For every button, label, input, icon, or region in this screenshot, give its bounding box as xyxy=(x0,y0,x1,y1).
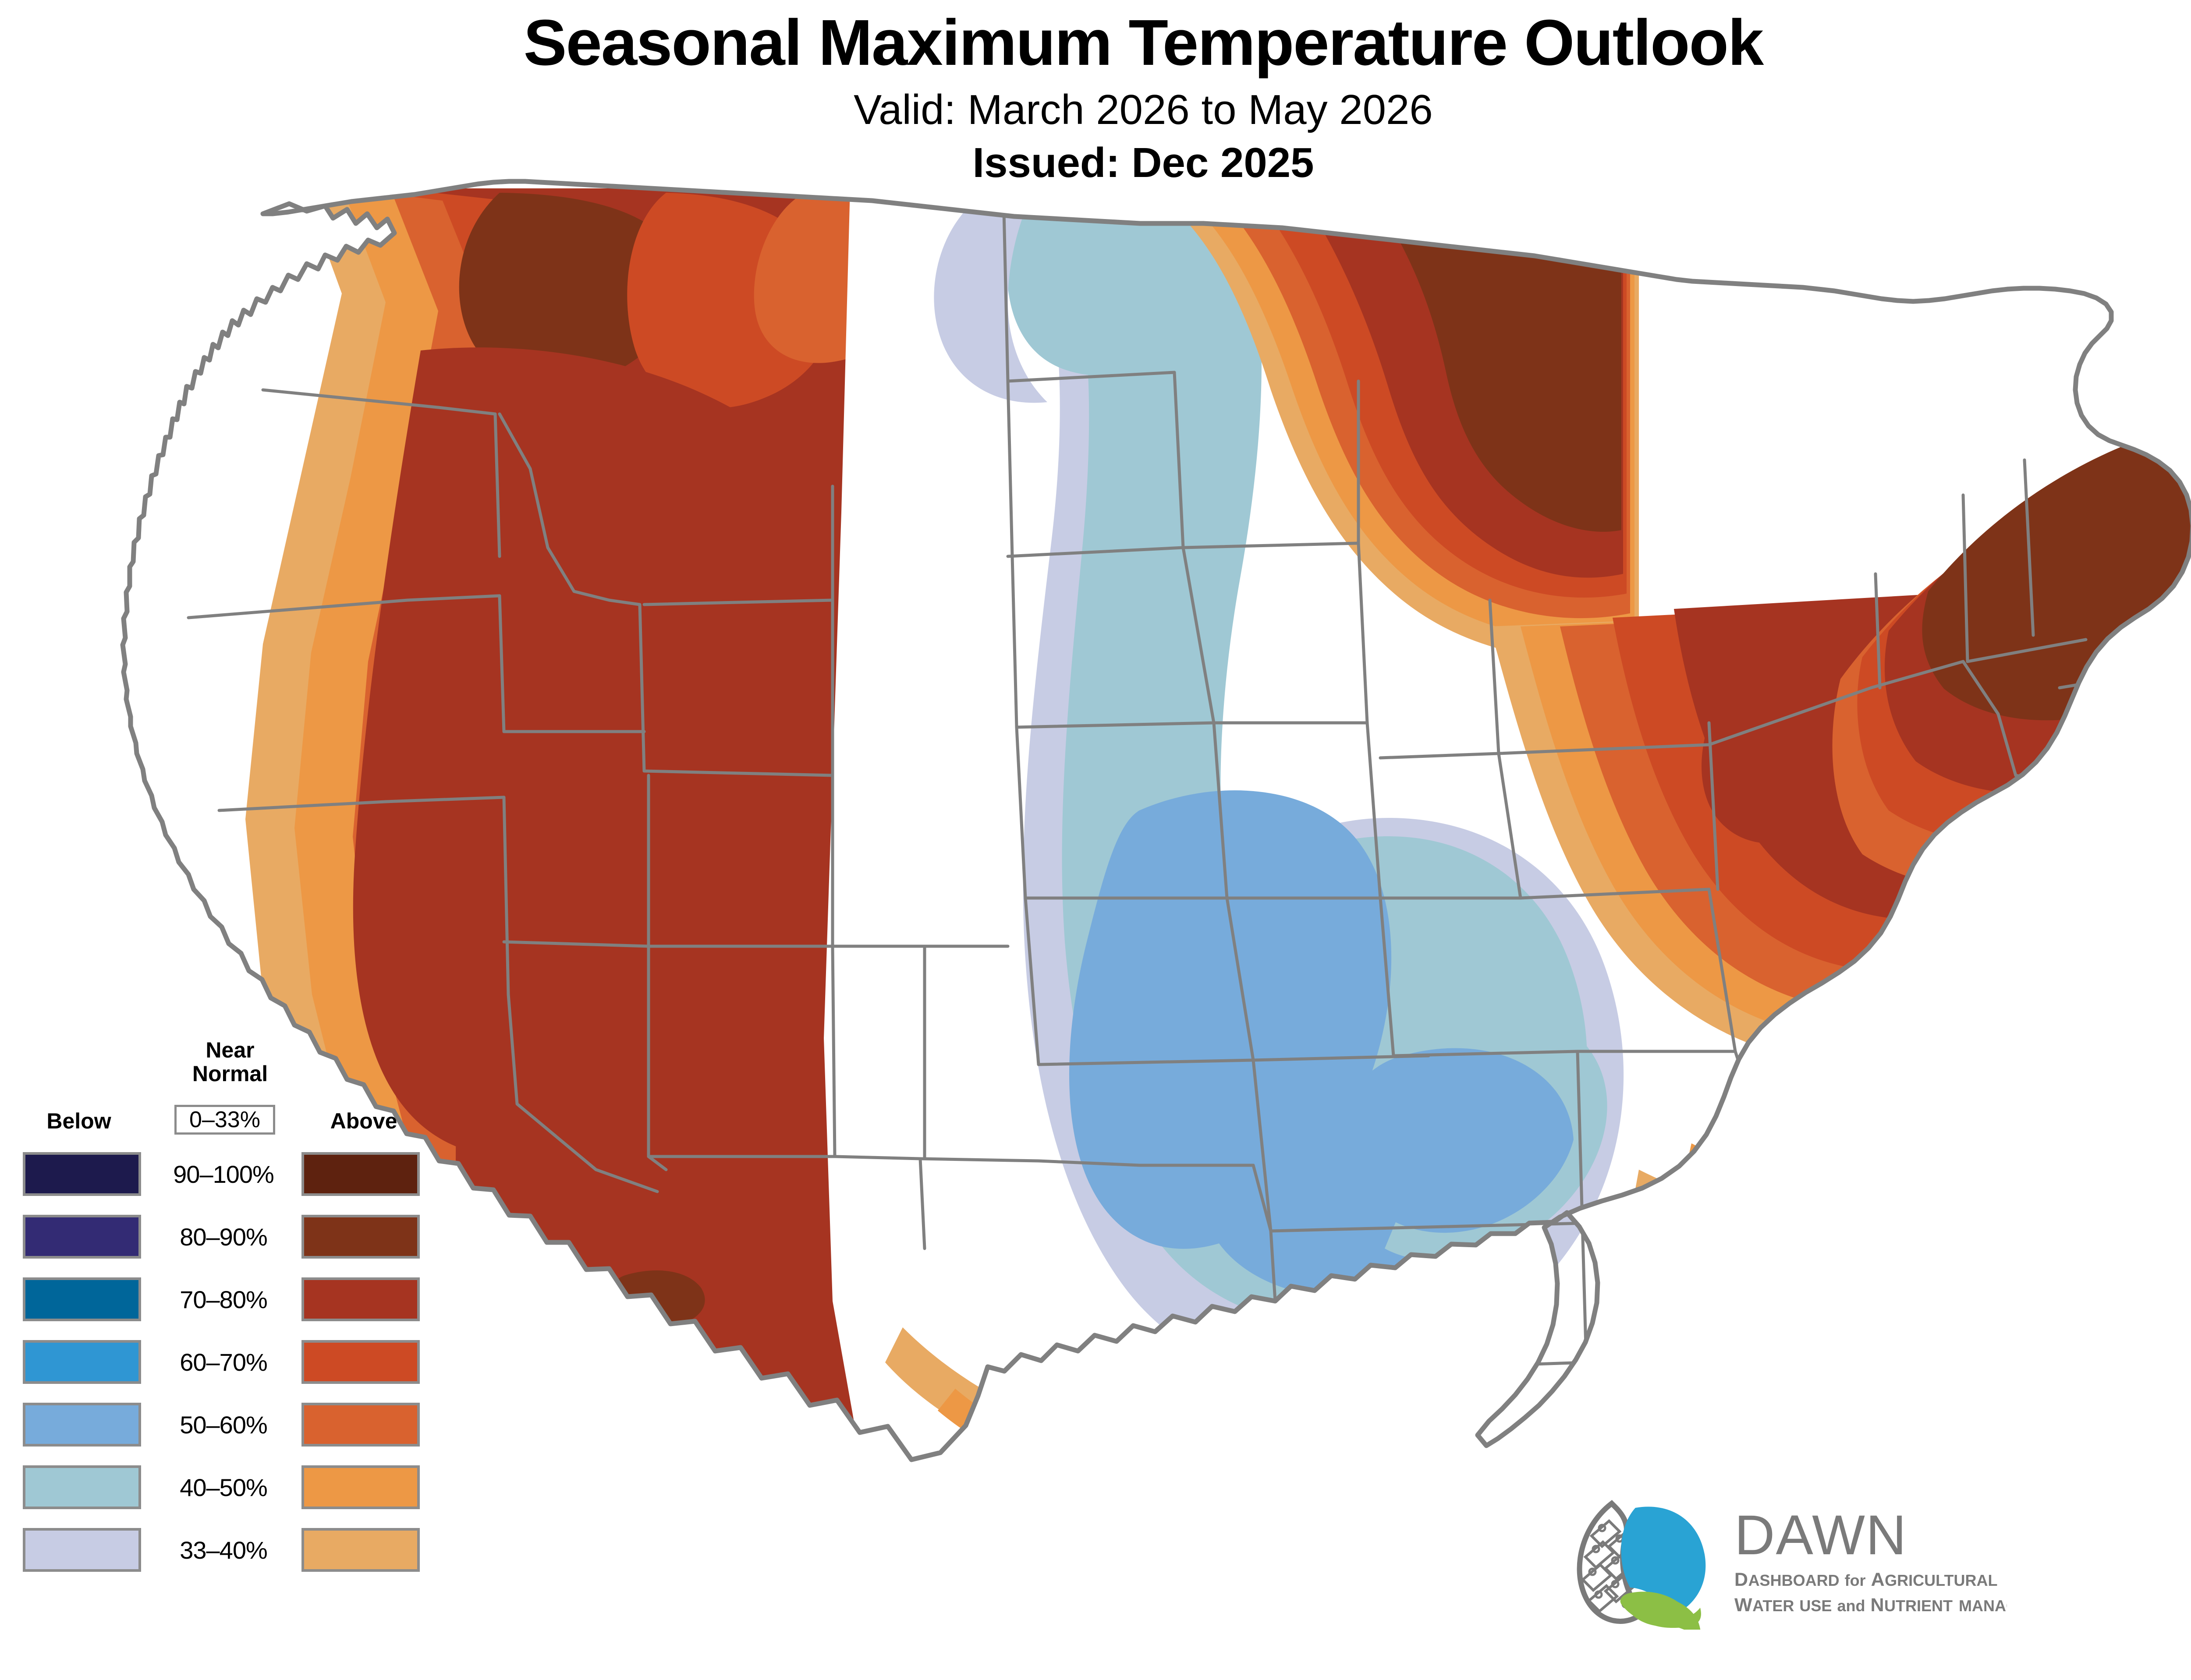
legend-range-label: 60–70% xyxy=(145,1340,302,1384)
title-block: Seasonal Maximum Temperature Outlook Val… xyxy=(0,0,2191,188)
legend-swatch-below xyxy=(23,1340,141,1384)
legend-swatch-below xyxy=(23,1277,141,1321)
legend-range-label: 33–40% xyxy=(145,1528,302,1572)
legend-swatch-above xyxy=(301,1277,420,1321)
region-mid-atlantic-40-50 xyxy=(2033,766,2191,1117)
dawn-logo: DAWN DASHBOARDforAGRICULTURAL WATERUSEan… xyxy=(1560,1494,2007,1630)
legend-range-label: 70–80% xyxy=(145,1277,302,1321)
region-carolinas-50-60 xyxy=(1976,1139,2124,1209)
legend-row: 33–40% xyxy=(13,1524,447,1586)
legend-rows: 90–100%80–90%70–80%60–70%50–60%40–50%33–… xyxy=(13,1148,447,1586)
dawn-tagline-line1: DASHBOARDforAGRICULTURAL xyxy=(1734,1569,1997,1590)
legend-swatch-below xyxy=(23,1152,141,1196)
legend-swatch-above xyxy=(301,1465,420,1509)
legend-swatch-above xyxy=(301,1340,420,1384)
region-south-florida-40-50 xyxy=(1698,1362,1779,1498)
region-southeast-33-40 xyxy=(1621,1161,2147,1371)
legend-row: 70–80% xyxy=(13,1273,447,1336)
dawn-logo-svg: DAWN DASHBOARDforAGRICULTURAL WATERUSEan… xyxy=(1560,1494,2007,1630)
legend-near-normal-heading: Near Normal xyxy=(158,1038,302,1086)
legend: Near Normal 0–33% Below Above 90–100%80–… xyxy=(13,1038,447,1665)
legend-swatch-below xyxy=(23,1528,141,1572)
legend-swatch-above xyxy=(301,1152,420,1196)
legend-swatch-above xyxy=(301,1528,420,1572)
legend-swatch-below xyxy=(23,1403,141,1447)
legend-near-normal-range: 0–33% xyxy=(174,1105,275,1135)
legend-row: 90–100% xyxy=(13,1148,447,1210)
contour-layers xyxy=(228,188,2191,1498)
valid-period: Valid: March 2026 to May 2026 xyxy=(0,75,2191,134)
legend-range-label: 90–100% xyxy=(145,1152,302,1196)
legend-row: 50–60% xyxy=(13,1398,447,1461)
legend-near-normal-line2: Normal xyxy=(158,1062,302,1086)
dawn-wordmark: DAWN xyxy=(1734,1504,1907,1567)
legend-row: 80–90% xyxy=(13,1210,447,1273)
legend-swatch-below xyxy=(23,1215,141,1259)
legend-row: 40–50% xyxy=(13,1461,447,1524)
legend-swatch-above xyxy=(301,1403,420,1447)
legend-range-label: 80–90% xyxy=(145,1215,302,1259)
legend-swatch-below xyxy=(23,1465,141,1509)
region-southeast-40-50 xyxy=(1674,1135,2138,1310)
legend-near-normal-line1: Near xyxy=(158,1038,302,1062)
dawn-tagline-line2: WATERUSEandNUTRIENTMANAGEMENT xyxy=(1734,1595,2007,1616)
legend-below-heading: Below xyxy=(13,1108,145,1134)
region-mid-atlantic-33-40 xyxy=(2060,793,2191,1130)
legend-above-heading: Above xyxy=(294,1108,434,1134)
page-title: Seasonal Maximum Temperature Outlook xyxy=(0,0,2191,75)
legend-range-label: 40–50% xyxy=(145,1465,302,1509)
legend-range-label: 50–60% xyxy=(145,1403,302,1447)
region-new-england-80-90 xyxy=(1922,404,2191,720)
legend-swatch-above xyxy=(301,1215,420,1259)
legend-row: 60–70% xyxy=(13,1336,447,1398)
